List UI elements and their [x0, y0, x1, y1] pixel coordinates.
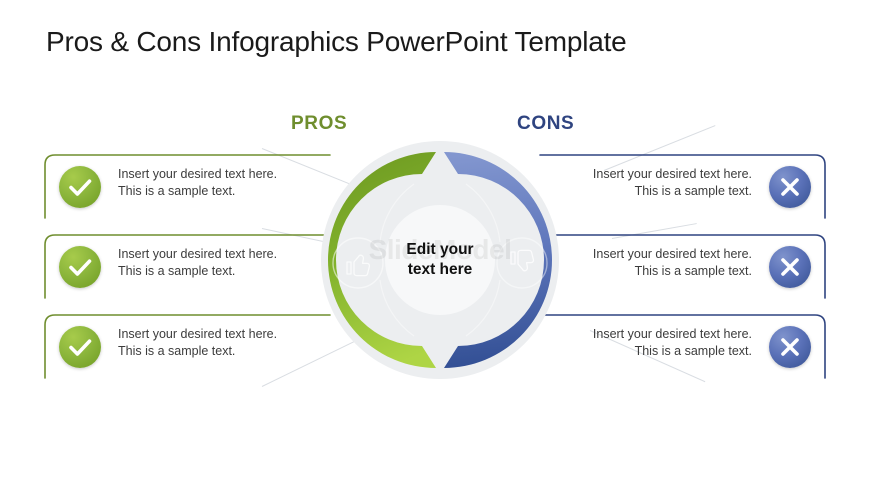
pros-item-1[interactable]: Insert your desired text here. This is a… — [44, 152, 332, 220]
pros-item-1-line2: This is a sample text. — [118, 183, 308, 200]
close-icon — [769, 166, 811, 208]
cons-item-2[interactable]: Insert your desired text here. This is a… — [538, 232, 826, 300]
cons-item-3-line2: This is a sample text. — [562, 343, 752, 360]
pros-item-3[interactable]: Insert your desired text here. This is a… — [44, 312, 332, 380]
pros-item-2-line1: Insert your desired text here. — [118, 246, 308, 263]
cons-item-1-line1: Insert your desired text here. — [562, 166, 752, 183]
pros-item-3-text: Insert your desired text here. This is a… — [118, 326, 308, 360]
cons-item-3-text: Insert your desired text here. This is a… — [562, 326, 752, 360]
cons-column-heading: CONS — [517, 113, 574, 135]
slide-canvas: Pros & Cons Infographics PowerPoint Temp… — [0, 0, 870, 489]
check-icon — [59, 246, 101, 288]
close-icon — [769, 326, 811, 368]
cons-item-3[interactable]: Insert your desired text here. This is a… — [538, 312, 826, 380]
pros-item-1-text: Insert your desired text here. This is a… — [118, 166, 308, 200]
pros-item-3-line1: Insert your desired text here. — [118, 326, 308, 343]
pros-item-2[interactable]: Insert your desired text here. This is a… — [44, 232, 332, 300]
cons-item-1[interactable]: Insert your desired text here. This is a… — [538, 152, 826, 220]
cons-item-1-text: Insert your desired text here. This is a… — [562, 166, 752, 200]
donut-hole — [385, 205, 495, 315]
cons-item-2-line2: This is a sample text. — [562, 263, 752, 280]
pros-item-1-line1: Insert your desired text here. — [118, 166, 308, 183]
pros-item-3-line2: This is a sample text. — [118, 343, 308, 360]
pros-item-2-line2: This is a sample text. — [118, 263, 308, 280]
cons-item-2-text: Insert your desired text here. This is a… — [562, 246, 752, 280]
close-icon — [769, 246, 811, 288]
page-title: Pros & Cons Infographics PowerPoint Temp… — [46, 26, 627, 58]
donut-diagram: SlideModel Edit your text here — [318, 138, 562, 382]
cons-item-1-line2: This is a sample text. — [562, 183, 752, 200]
check-icon — [59, 326, 101, 368]
pros-column-heading: PROS — [291, 113, 347, 135]
cons-item-3-line1: Insert your desired text here. — [562, 326, 752, 343]
cons-item-2-line1: Insert your desired text here. — [562, 246, 752, 263]
check-icon — [59, 166, 101, 208]
pros-item-2-text: Insert your desired text here. This is a… — [118, 246, 308, 280]
